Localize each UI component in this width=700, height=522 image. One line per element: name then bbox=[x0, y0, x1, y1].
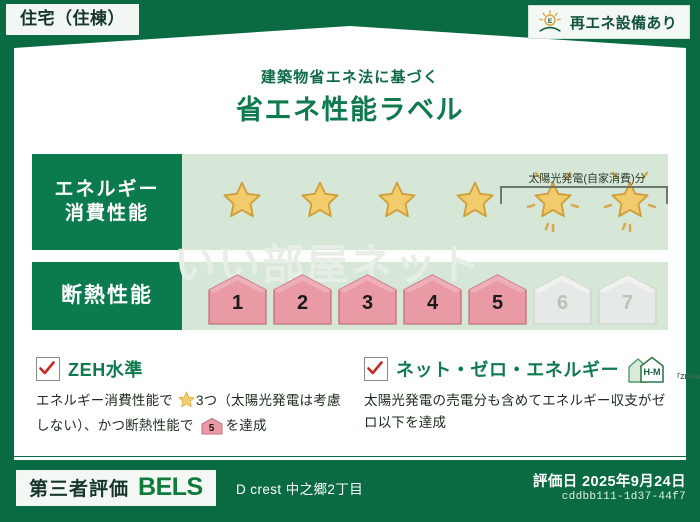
criterion-nze-title: ネット・ゼロ・エネルギー bbox=[396, 356, 619, 382]
zeh-body-pre: エネルギー消費性能で bbox=[36, 393, 173, 408]
zeh-body-post: を達成 bbox=[226, 418, 267, 433]
criterion-nze-body: 太陽光発電の売電分も含めてエネルギー収支がゼロ以下を達成 bbox=[364, 390, 674, 434]
bels-energy-label: 住宅（住棟） E 再エネ設備あり 建築物省エネ法に基づく 省エネ性能ラベル いい… bbox=[0, 0, 700, 522]
zeh-m-logo: H-M 「ZEH-M」 bbox=[625, 354, 700, 384]
insulation-level: 7 bbox=[596, 272, 659, 326]
evaluation-id: cddbb111-1d37-44f7 bbox=[562, 491, 686, 503]
insulation-level: 2 bbox=[271, 272, 334, 326]
insulation-level-value: 1 bbox=[206, 292, 269, 315]
zeh-m-house-icon: H-M bbox=[625, 354, 671, 384]
net-zero-checkbox bbox=[364, 357, 388, 381]
criterion-zeh-title: ZEH水準 bbox=[68, 356, 143, 382]
renewable-badge-label: 再エネ設備あり bbox=[570, 12, 677, 33]
energy-star bbox=[204, 157, 280, 247]
insulation-level-value: 7 bbox=[596, 292, 659, 315]
energy-label-line2: 消費性能 bbox=[65, 203, 149, 224]
criterion-zeh-header: ZEH水準 bbox=[36, 356, 352, 382]
insulation-level-value: 3 bbox=[336, 292, 399, 315]
bels-certification-chip: 第三者評価 BELS bbox=[16, 470, 216, 506]
inline-insulation-badge: 5 bbox=[200, 417, 224, 435]
insulation-level: 3 bbox=[336, 272, 399, 326]
building-name: D crest 中之郷2丁目 bbox=[236, 478, 363, 498]
solar-portion-note: 太陽光発電(自家消費)分 bbox=[494, 170, 680, 186]
svg-text:E: E bbox=[548, 18, 553, 25]
evaluation-date: 評価日 2025年9月24日 bbox=[533, 470, 686, 491]
insulation-level-value: 5 bbox=[466, 292, 529, 315]
insulation-level: 5 bbox=[466, 272, 529, 326]
bels-jp-label: 第三者評価 bbox=[29, 474, 129, 501]
label-title: 省エネ性能ラベル bbox=[14, 88, 686, 127]
building-type-chip: 住宅（住棟） bbox=[6, 4, 139, 35]
insulation-level: 1 bbox=[206, 272, 269, 326]
label-subtitle: 建築物省エネ法に基づく bbox=[14, 66, 686, 87]
zeh-checkbox bbox=[36, 357, 60, 381]
criterion-nze-header: ネット・ゼロ・エネルギー H-M 「ZEH-M」 bbox=[364, 356, 674, 382]
label-footer: 第三者評価 BELS D crest 中之郷2丁目 評価日 2025年9月24日… bbox=[0, 460, 700, 522]
insulation-performance-label: 断熱性能 bbox=[32, 262, 182, 330]
insulation-level-value: 6 bbox=[531, 292, 594, 315]
insulation-level-value: 2 bbox=[271, 292, 334, 315]
svg-text:H-M: H-M bbox=[644, 367, 661, 377]
energy-star bbox=[359, 157, 435, 247]
insulation-level: 4 bbox=[401, 272, 464, 326]
solar-portion-bracket bbox=[500, 186, 668, 204]
renewable-equipment-badge: E 再エネ設備あり bbox=[528, 5, 690, 39]
panel-content: 建築物省エネ法に基づく 省エネ性能ラベル いい部屋ネット エネルギー 消費性能 … bbox=[14, 26, 686, 456]
energy-performance-label: エネルギー 消費性能 bbox=[32, 154, 182, 250]
insulation-level-scale: 1 2 3 4 5 6 7 bbox=[200, 266, 668, 326]
criterion-zeh-body: エネルギー消費性能で 3つ（太陽光発電は考慮しない）、かつ断熱性能で 5 を達成 bbox=[36, 390, 352, 437]
criterion-zeh: ZEH水準 エネルギー消費性能で 3つ（太陽光発電は考慮しない）、かつ断熱性能で… bbox=[36, 356, 352, 437]
sun-solar-icon: E bbox=[537, 9, 563, 35]
bels-en-label: BELS bbox=[138, 475, 203, 500]
insulation-level: 6 bbox=[531, 272, 594, 326]
energy-label-line1: エネルギー bbox=[54, 179, 159, 200]
zeh-m-logo-caption: 「ZEH-M」 bbox=[673, 372, 700, 384]
energy-star bbox=[282, 157, 358, 247]
inline-insulation-value: 5 bbox=[200, 421, 224, 437]
insulation-level-value: 4 bbox=[401, 292, 464, 315]
footer-divider bbox=[14, 457, 686, 460]
inline-star-icon bbox=[178, 391, 195, 415]
criterion-net-zero-energy: ネット・ゼロ・エネルギー H-M 「ZEH-M」 太陽光発電の売電分も含めてエネ… bbox=[364, 356, 674, 434]
